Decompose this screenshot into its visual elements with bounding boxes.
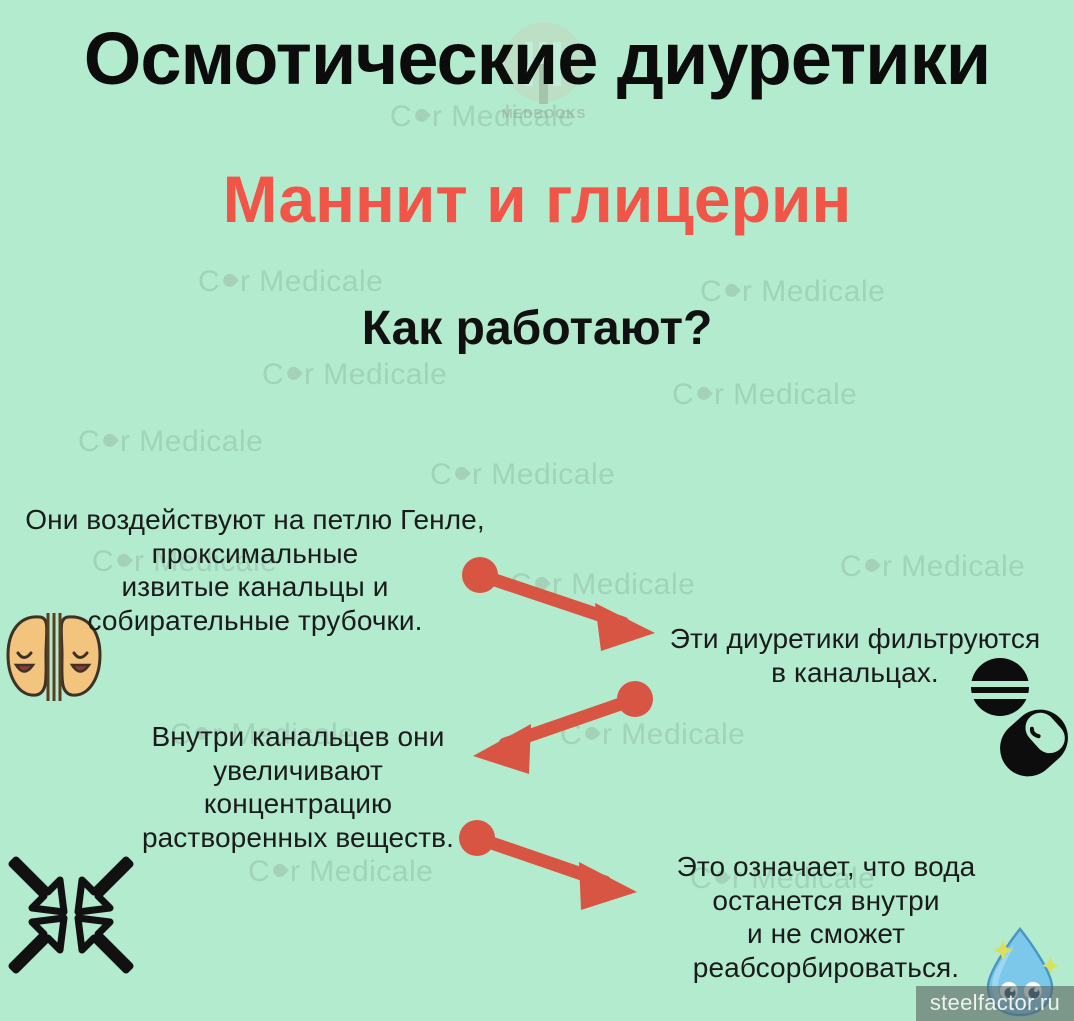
cor-medicale-watermark: Cr Medicale <box>700 275 885 309</box>
step-3-text: Внутри канальцев они увеличивают концент… <box>108 720 488 854</box>
infographic-poster: MEDBOOKS Cr MedicaleCr MedicaleCr Medica… <box>0 0 1074 1021</box>
cor-medicale-watermark: Cr Medicale <box>248 855 433 889</box>
page-title: Осмотические диуретики <box>0 22 1074 96</box>
drug-names-title: Маннит и глицерин <box>0 166 1074 232</box>
cor-medicale-watermark: Cr Medicale <box>840 550 1025 584</box>
site-watermark-bar: steelfactor.ru <box>916 986 1074 1021</box>
cor-medicale-watermark: Cr Medicale <box>262 358 447 392</box>
converging-arrows-icon <box>8 852 134 978</box>
question-heading: Как работают? <box>0 305 1074 353</box>
cor-medicale-watermark: Cr Medicale <box>78 425 263 459</box>
step-4-text: Это означает, что вода останется внутри … <box>636 850 1016 984</box>
cor-medicale-watermark: Cr Medicale <box>672 378 857 412</box>
cor-medicale-watermark: Cr Medicale <box>430 458 615 492</box>
step-2-text: Эти диуретики фильтруются в канальцах. <box>640 622 1070 689</box>
cor-medicale-watermark: Cr Medicale <box>390 100 575 134</box>
cor-medicale-watermark: Cr Medicale <box>198 265 383 299</box>
medbooks-watermark-label: MEDBOOKS <box>492 106 596 121</box>
step-1-text: Они воздействуют на петлю Генле, проксим… <box>22 503 488 637</box>
